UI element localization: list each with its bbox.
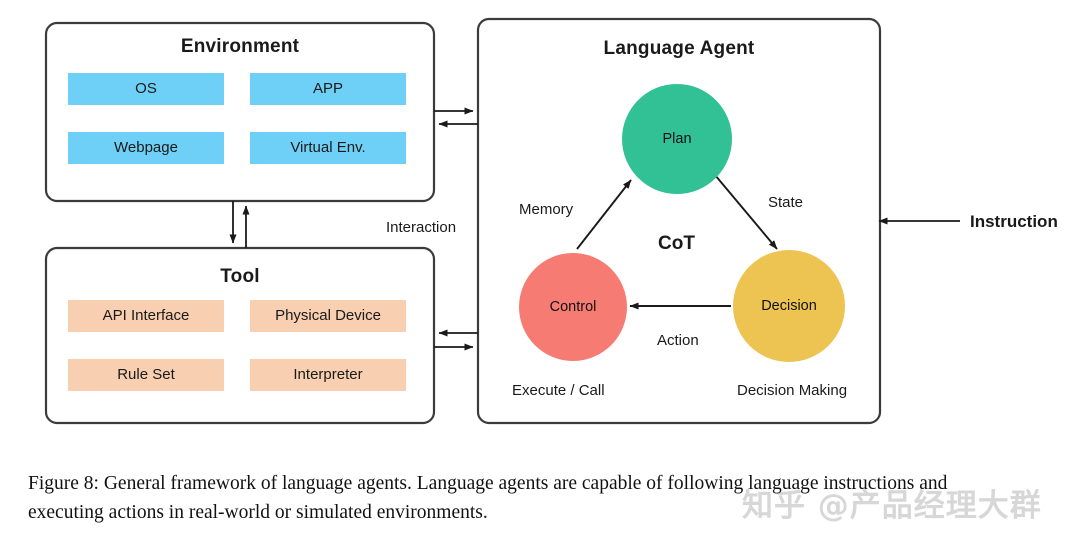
- cot-center-label: CoT: [658, 234, 695, 253]
- environment-chip-os-label: OS: [68, 81, 224, 96]
- cot-edge-label-memory: Memory: [519, 202, 573, 217]
- interaction-label: Interaction: [386, 220, 456, 235]
- agent-bottom-label-decision-making: Decision Making: [737, 383, 847, 398]
- figure-caption: Figure 8: General framework of language …: [28, 470, 1063, 527]
- agent-panel-frame: [478, 19, 880, 423]
- agent-bottom-label-execute-call: Execute / Call: [512, 383, 605, 398]
- environment-panel-title: Environment: [46, 37, 434, 56]
- instruction-label: Instruction: [970, 213, 1058, 230]
- environment-chip-webpage-label: Webpage: [68, 140, 224, 155]
- cot-node-control-label: Control: [518, 300, 628, 315]
- cot-node-decision-label: Decision: [733, 299, 845, 314]
- tool-chip-physical-device-label: Physical Device: [250, 308, 406, 323]
- tool-chip-api-interface-label: API Interface: [68, 308, 224, 323]
- agent-panel-title: Language Agent: [478, 39, 880, 58]
- figure-container: Environment OS APP Webpage Virtual Env. …: [0, 0, 1080, 541]
- figure-caption-line-1: Figure 8: General framework of language …: [28, 470, 1063, 499]
- environment-chip-virtual-env-label: Virtual Env.: [250, 140, 406, 155]
- figure-caption-line-2: executing actions in real-world or simul…: [28, 499, 1063, 528]
- tool-chip-interpreter-label: Interpreter: [250, 367, 406, 382]
- cot-edge-label-state: State: [768, 195, 803, 210]
- environment-chip-app-label: APP: [250, 81, 406, 96]
- tool-panel-title: Tool: [46, 267, 434, 286]
- cot-edge-label-action: Action: [657, 333, 699, 348]
- cot-node-plan-label: Plan: [622, 132, 732, 147]
- tool-chip-rule-set-label: Rule Set: [68, 367, 224, 382]
